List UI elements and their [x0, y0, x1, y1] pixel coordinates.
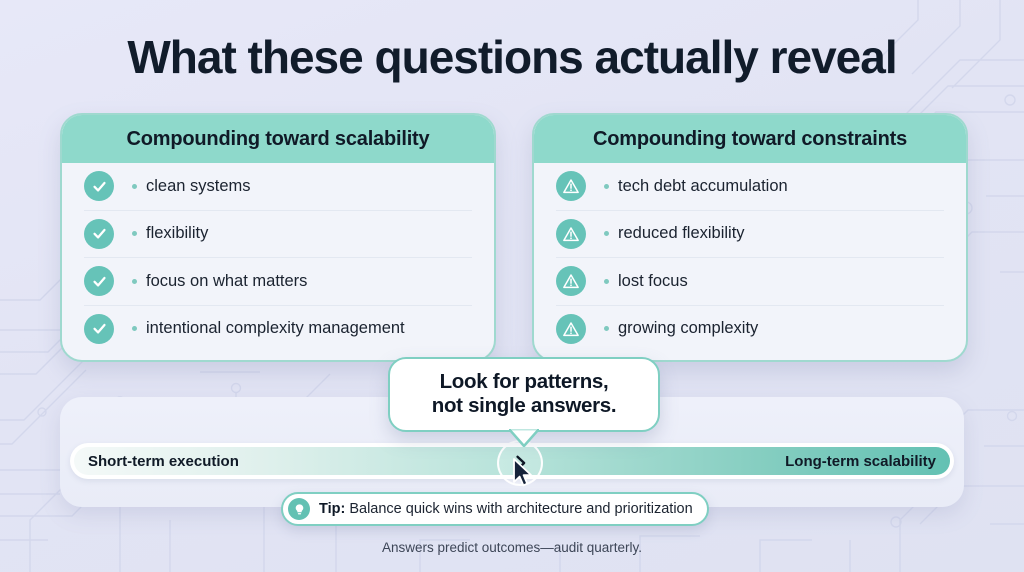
bullet-dot [604, 184, 609, 189]
mouse-cursor [512, 458, 536, 490]
list-item[interactable]: growing complexity [556, 306, 944, 353]
check-icon [84, 171, 114, 201]
tip-text: Tip: Balance quick wins with architectur… [319, 501, 693, 517]
list-item[interactable]: tech debt accumulation [556, 163, 944, 211]
list-item-label: lost focus [618, 272, 688, 291]
spectrum-left-label: Short-term execution [88, 453, 239, 470]
bullet-dot [132, 279, 137, 284]
list-item[interactable]: clean systems [84, 163, 472, 211]
list-item[interactable]: focus on what matters [84, 258, 472, 306]
list-item-label: growing complexity [618, 319, 758, 338]
slide-canvas: What these questions actually reveal Com… [0, 0, 1024, 572]
list-item-label: reduced flexibility [618, 224, 745, 243]
card-compounding-toward-scalability: Compounding toward scalability clean sys… [60, 113, 496, 362]
tip-pill: Tip: Balance quick wins with architectur… [281, 492, 709, 526]
list-item-label: focus on what matters [146, 272, 307, 291]
check-icon [84, 266, 114, 296]
bullet-dot [132, 326, 137, 331]
list-item[interactable]: lost focus [556, 258, 944, 306]
card-heading-left: Compounding toward scalability [62, 115, 494, 163]
callout-line-2: not single answers. [400, 394, 648, 418]
list-item[interactable]: intentional complexity management [84, 306, 472, 353]
lightbulb-icon [288, 498, 310, 520]
bullet-dot [604, 231, 609, 236]
callout-bubble: Look for patterns, not single answers. [388, 357, 660, 432]
list-item-label: clean systems [146, 177, 251, 196]
list-item-label: tech debt accumulation [618, 177, 788, 196]
card-compounding-toward-constraints: Compounding toward constraints tech debt… [532, 113, 968, 362]
bullet-dot [604, 279, 609, 284]
callout-line-1: Look for patterns, [400, 370, 648, 394]
list-item-label: intentional complexity management [146, 319, 405, 338]
card-body-left: clean systems flexibility focus on what … [62, 163, 494, 352]
warning-icon [556, 219, 586, 249]
warning-icon [556, 171, 586, 201]
check-icon [84, 314, 114, 344]
card-body-right: tech debt accumulation reduced flexibili… [534, 163, 966, 352]
check-icon [84, 219, 114, 249]
page-title: What these questions actually reveal [0, 30, 1024, 84]
footer-note: Answers predict outcomes—audit quarterly… [0, 540, 1024, 555]
bullet-dot [132, 184, 137, 189]
card-heading-right: Compounding toward constraints [534, 115, 966, 163]
tip-prefix: Tip: [319, 501, 345, 517]
list-item-label: flexibility [146, 224, 208, 243]
list-item[interactable]: reduced flexibility [556, 211, 944, 259]
warning-icon [556, 314, 586, 344]
tip-body: Balance quick wins with architecture and… [345, 501, 692, 517]
warning-icon [556, 266, 586, 296]
bullet-dot [132, 231, 137, 236]
spectrum-right-label: Long-term scalability [785, 453, 936, 470]
bullet-dot [604, 326, 609, 331]
list-item[interactable]: flexibility [84, 211, 472, 259]
callout-tail [509, 429, 539, 447]
